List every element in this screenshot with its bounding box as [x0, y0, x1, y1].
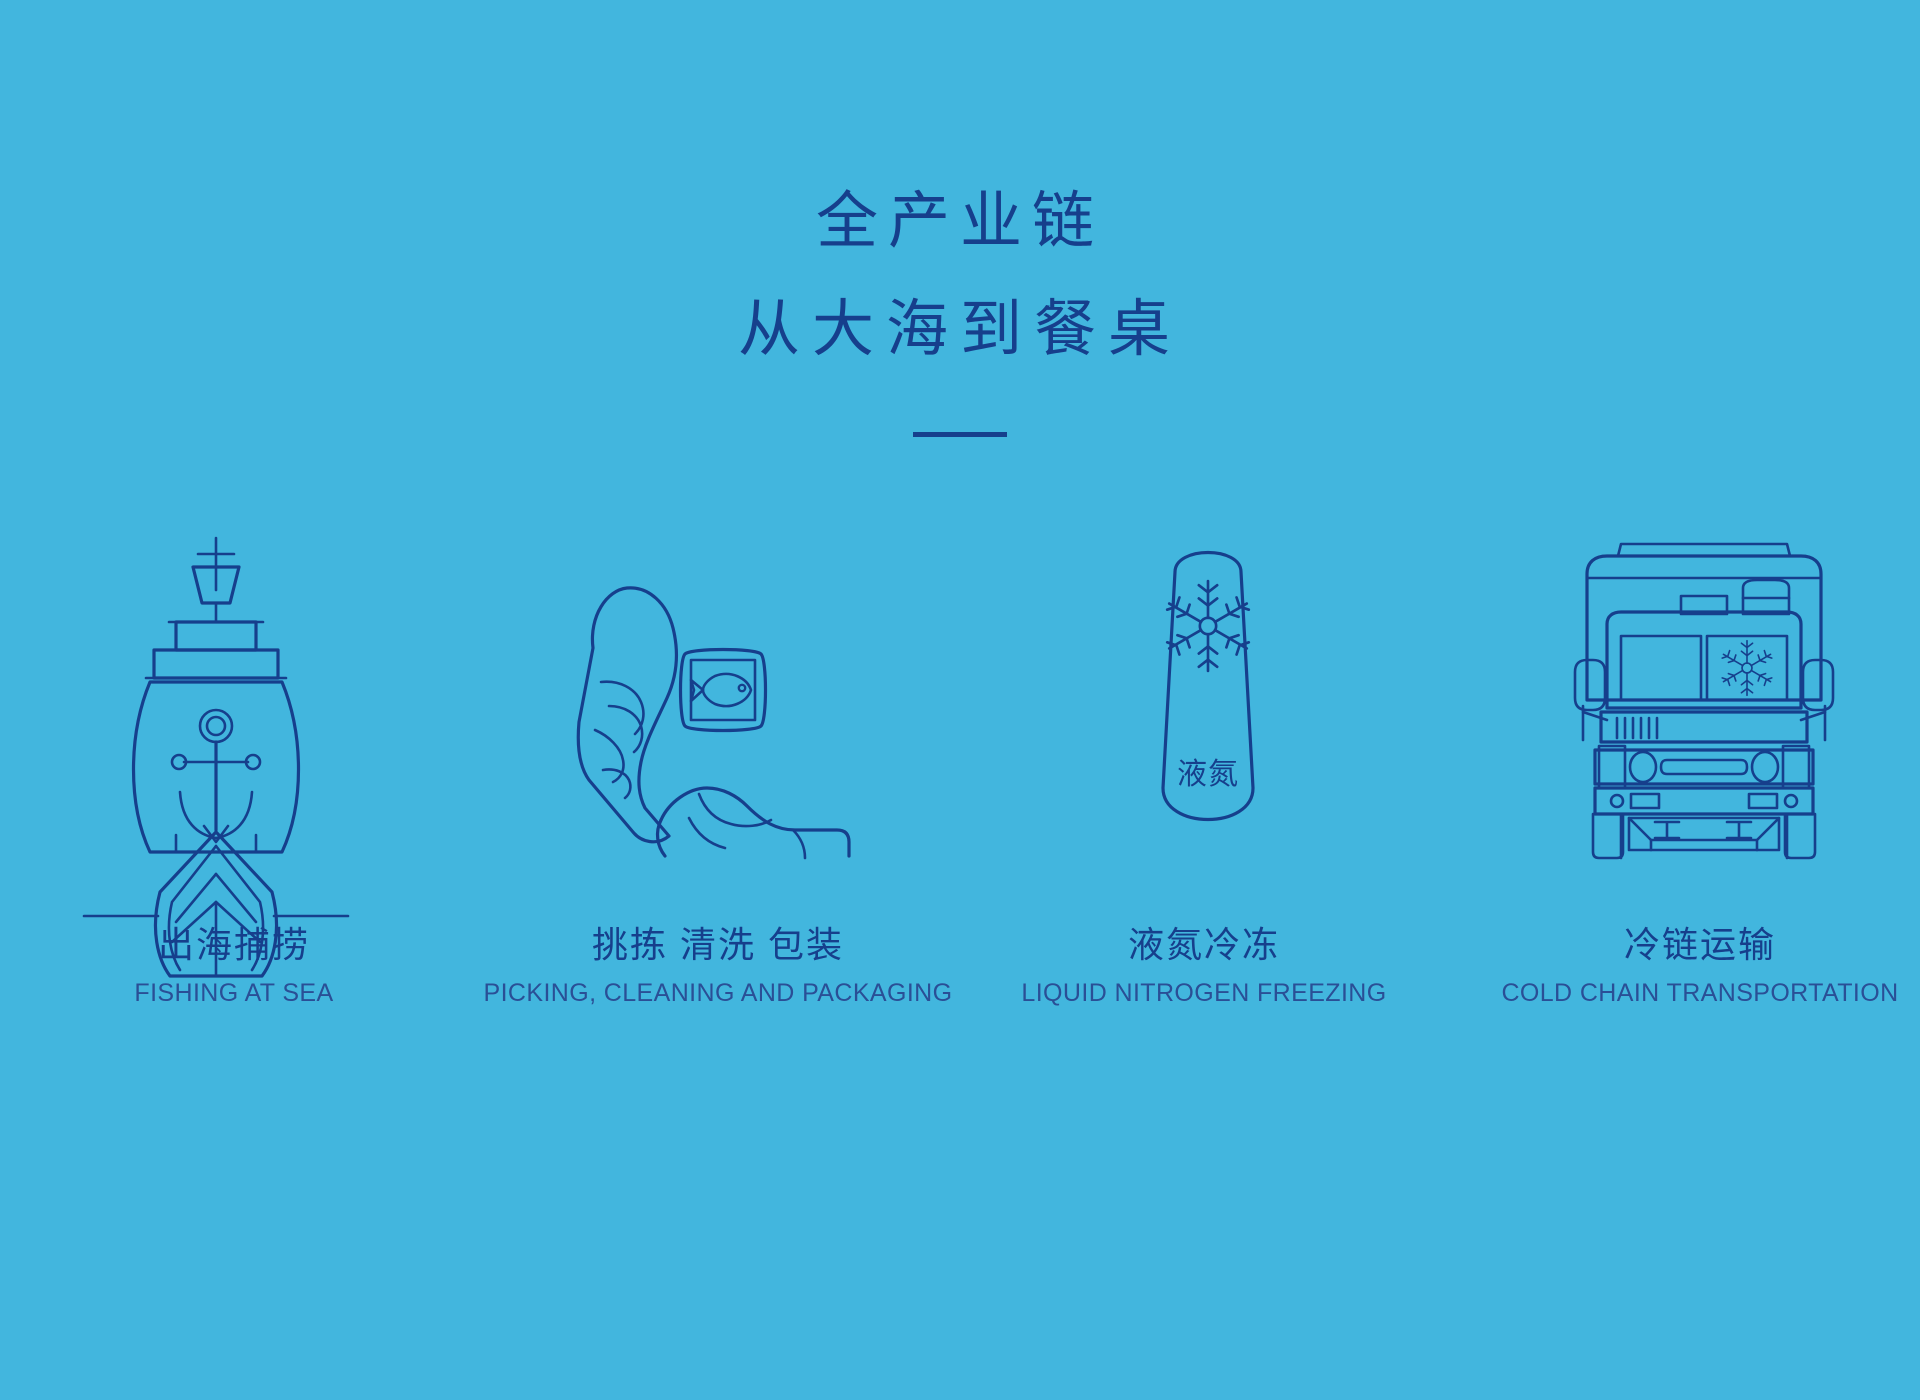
- step-liquid-nitrogen-freezing[interactable]: 液氮 液氮冷冻 LIQUID NITROGEN FREEZING: [960, 520, 1440, 1010]
- snowflake-icon: [1167, 581, 1249, 671]
- step-label-en: COLD CHAIN TRANSPORTATION: [1460, 976, 1920, 1010]
- refrigerated-truck-icon: [1559, 530, 1849, 860]
- step-label-en: FISHING AT SEA: [0, 976, 474, 1010]
- snowflake-icon: [1722, 641, 1772, 696]
- step-fishing-at-sea[interactable]: 出海捕捞 FISHING AT SEA: [0, 520, 480, 1010]
- page-root: 全产业链 从大海到餐桌: [0, 0, 1920, 1400]
- title-divider-wrap: [0, 426, 1920, 436]
- page-header: 全产业链 从大海到餐桌: [0, 168, 1920, 436]
- step-labels: 挑拣 清洗 包装 PICKING, CLEANING AND PACKAGING: [478, 922, 958, 1010]
- truck-icon-box: [1559, 520, 1849, 860]
- title-divider: [913, 432, 1007, 437]
- lower-hand-icon: [658, 788, 849, 858]
- tank-label: 液氮: [1177, 758, 1239, 791]
- step-picking-cleaning-packaging[interactable]: 挑拣 清洗 包装 PICKING, CLEANING AND PACKAGING: [480, 520, 960, 1010]
- packaged-fish-icon: [681, 650, 766, 731]
- step-label-cn: 液氮冷冻: [964, 922, 1444, 968]
- liquid-nitrogen-icon-box: 液氮: [1113, 520, 1303, 860]
- liquid-nitrogen-tank-icon: 液氮: [1113, 530, 1303, 860]
- fishing-boat-icon-box: [66, 520, 366, 860]
- hands-icon-box: [549, 520, 879, 860]
- step-labels: 出海捕捞 FISHING AT SEA: [0, 922, 474, 1010]
- process-steps: 出海捕捞 FISHING AT SEA: [0, 520, 1920, 1140]
- hands-with-packaged-fish-icon: [549, 530, 879, 860]
- step-label-cn: 冷链运输: [1460, 922, 1920, 968]
- step-cold-chain-transportation[interactable]: 冷链运输 COLD CHAIN TRANSPORTATION: [1440, 520, 1920, 1010]
- upper-hand-icon: [578, 588, 676, 842]
- anchor-icon: [172, 710, 260, 842]
- step-labels: 冷链运输 COLD CHAIN TRANSPORTATION: [1460, 922, 1920, 1010]
- fishing-boat-icon: [66, 530, 366, 860]
- step-label-en: LIQUID NITROGEN FREEZING: [964, 976, 1444, 1010]
- step-label-cn: 出海捕捞: [0, 922, 474, 968]
- step-label-en: PICKING, CLEANING AND PACKAGING: [478, 976, 958, 1010]
- step-labels: 液氮冷冻 LIQUID NITROGEN FREEZING: [964, 922, 1444, 1010]
- page-title-line-1: 全产业链: [0, 168, 1920, 276]
- page-title-line-2: 从大海到餐桌: [0, 276, 1920, 384]
- step-label-cn: 挑拣 清洗 包装: [478, 922, 958, 968]
